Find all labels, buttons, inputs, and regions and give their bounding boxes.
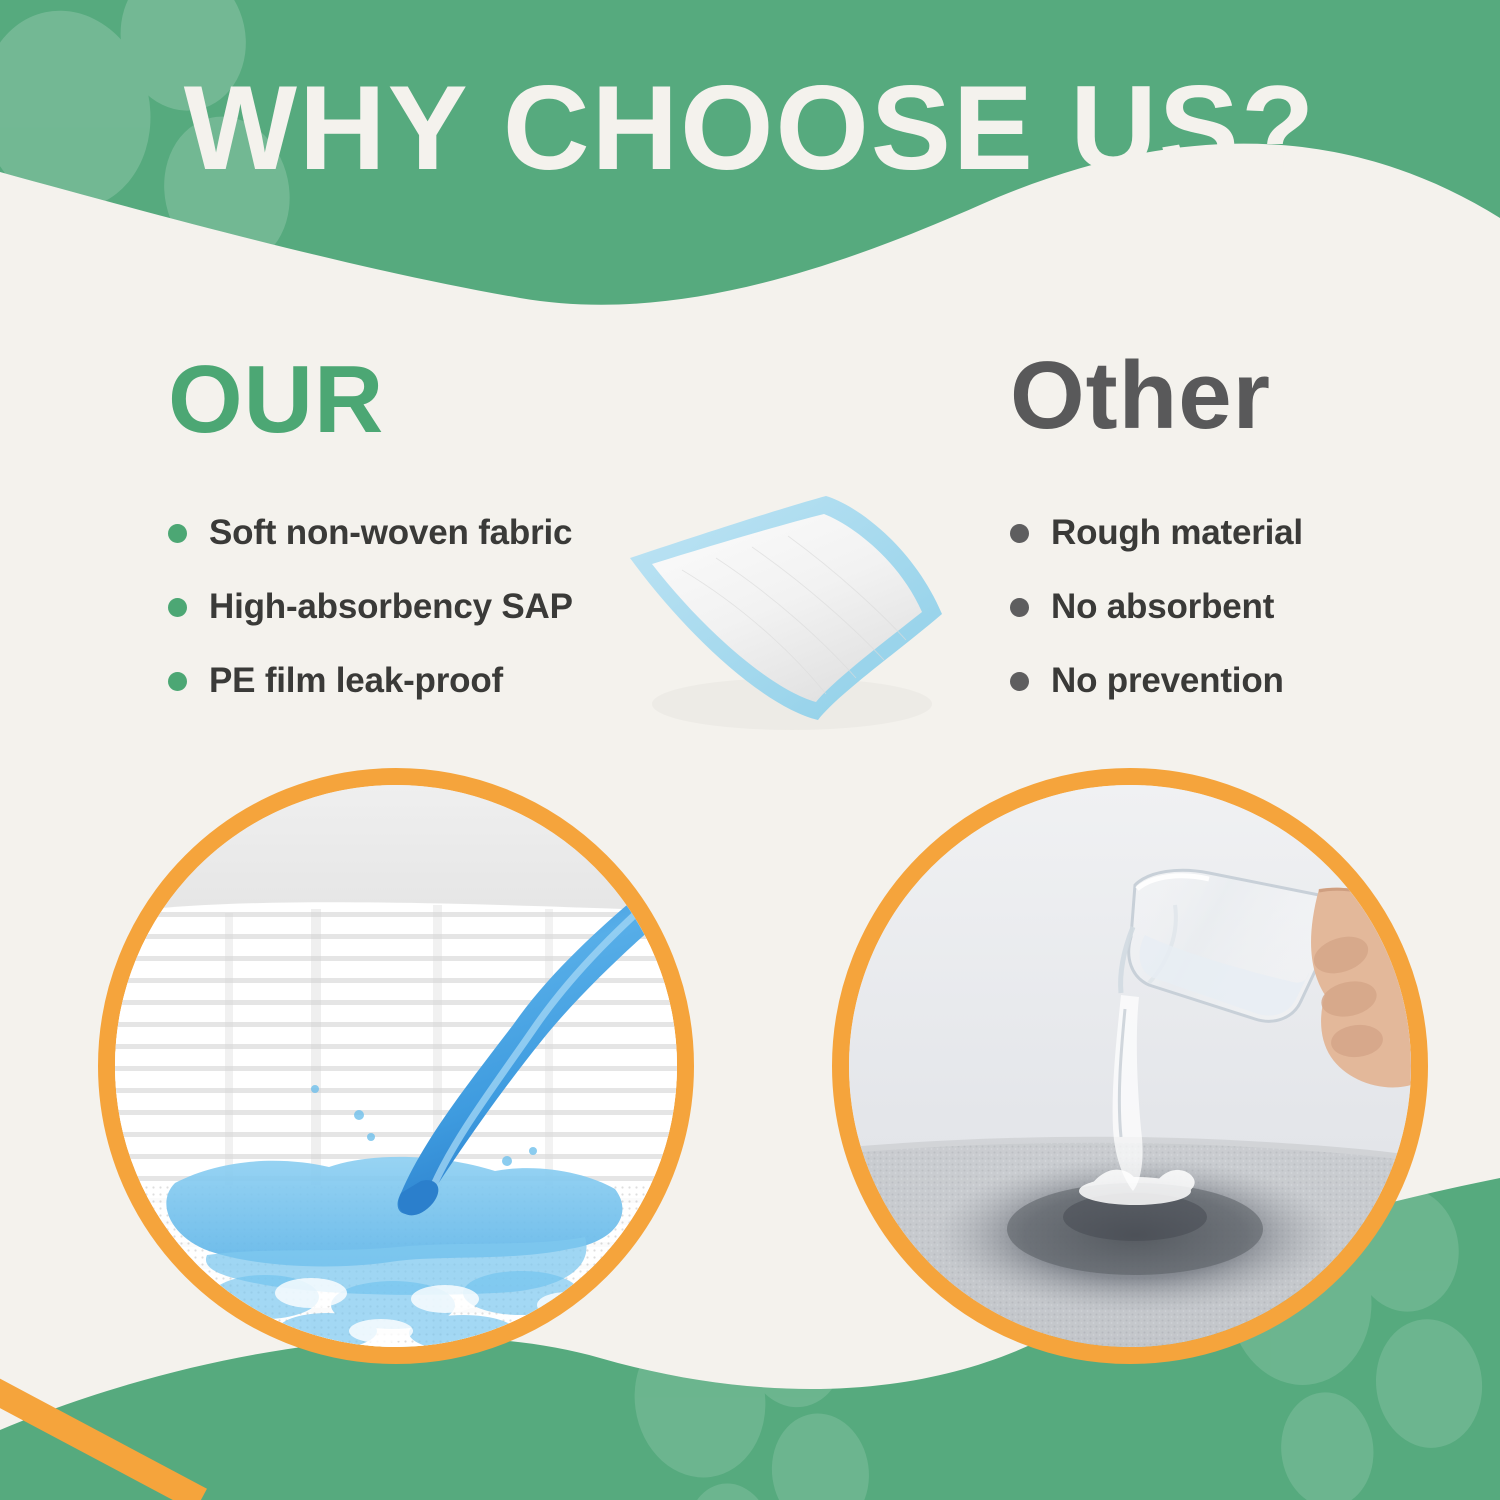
why-choose-us-poster: WHY CHOOSE US? OUR Other Soft non-woven … — [0, 0, 1500, 1500]
other-photo-circle — [832, 768, 1428, 1364]
pet-pad-illustration — [612, 482, 952, 752]
list-item: Rough material — [1010, 500, 1450, 566]
list-item-label: Soft non-woven fabric — [209, 513, 572, 553]
list-item: No absorbent — [1010, 574, 1450, 640]
water-absorbed-by-pad-photo — [115, 785, 677, 1347]
our-column-heading: OUR — [168, 352, 384, 448]
list-item-label: No absorbent — [1051, 587, 1274, 627]
other-column-heading: Other — [1010, 348, 1271, 444]
bullet-dot-icon — [1010, 524, 1029, 543]
our-feature-list: Soft non-woven fabric High-absorbency SA… — [168, 500, 638, 722]
list-item: PE film leak-proof — [168, 648, 638, 714]
list-item: Soft non-woven fabric — [168, 500, 638, 566]
list-item-label: High-absorbency SAP — [209, 587, 573, 627]
water-pooling-on-carpet-photo — [849, 785, 1411, 1347]
list-item: High-absorbency SAP — [168, 574, 638, 640]
bullet-dot-icon — [168, 672, 187, 691]
bullet-dot-icon — [168, 598, 187, 617]
list-item: No prevention — [1010, 648, 1450, 714]
list-item-label: No prevention — [1051, 661, 1284, 701]
other-feature-list: Rough material No absorbent No preventio… — [1010, 500, 1450, 722]
bullet-dot-icon — [168, 524, 187, 543]
list-item-label: PE film leak-proof — [209, 661, 503, 701]
page-title: WHY CHOOSE US? — [0, 68, 1500, 188]
list-item-label: Rough material — [1051, 513, 1303, 553]
our-photo-circle — [98, 768, 694, 1364]
bullet-dot-icon — [1010, 672, 1029, 691]
bullet-dot-icon — [1010, 598, 1029, 617]
